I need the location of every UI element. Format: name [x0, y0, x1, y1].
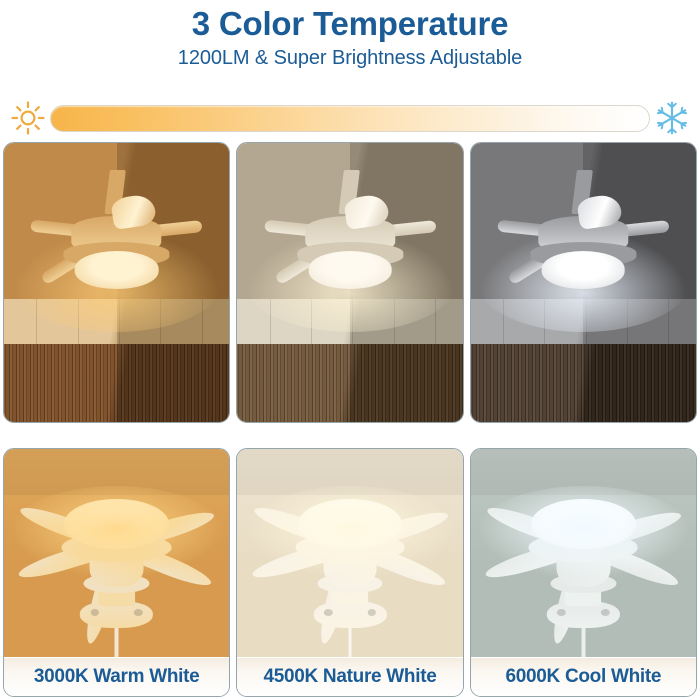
snowflake-icon — [654, 100, 690, 136]
light-dome — [531, 499, 636, 550]
light-dome — [64, 499, 169, 550]
room-photo — [471, 143, 696, 422]
room-scene-cool-white[interactable] — [470, 142, 697, 423]
temperature-gradient-bar[interactable] — [50, 105, 650, 132]
room-photo — [237, 143, 462, 422]
light-dome — [542, 251, 625, 289]
light-dome — [308, 251, 391, 289]
ceiling-fan — [471, 190, 696, 318]
page-subtitle: 1200LM & Super Brightness Adjustable — [0, 43, 700, 70]
ceiling-fan — [237, 190, 462, 318]
fan-closeup-photo — [471, 449, 696, 658]
color-temperature-caption: 6000K Cool White — [471, 657, 696, 696]
caption-label: 3000K Warm White — [34, 666, 200, 688]
light-dome — [298, 499, 403, 550]
caption-label: 4500K Nature White — [263, 666, 436, 688]
fan-closeup-row: 3000K Warm White — [3, 448, 697, 697]
photo-grid: 3000K Warm White — [3, 142, 697, 697]
fan-closeup-cool-white[interactable]: 6000K Cool White — [470, 448, 697, 697]
fan-closeup-photo — [4, 449, 229, 658]
page-title: 3 Color Temperature — [0, 0, 700, 43]
caption-label: 6000K Cool White — [505, 666, 661, 688]
header: 3 Color Temperature 1200LM & Super Brigh… — [0, 0, 700, 70]
fan-underside — [237, 482, 462, 645]
fan-closeup-warm-white[interactable]: 3000K Warm White — [3, 448, 230, 697]
room-scene-nature-white[interactable] — [236, 142, 463, 423]
ceiling-fan — [4, 190, 229, 318]
sun-icon — [8, 98, 48, 138]
product-infographic: 3 Color Temperature 1200LM & Super Brigh… — [0, 0, 700, 700]
color-temperature-caption: 3000K Warm White — [4, 657, 229, 696]
color-temperature-caption: 4500K Nature White — [237, 657, 462, 696]
fan-underside — [4, 482, 229, 645]
fan-underside — [471, 482, 696, 645]
light-dome — [75, 251, 158, 289]
room-scene-row — [3, 142, 697, 423]
fan-closeup-nature-white[interactable]: 4500K Nature White — [236, 448, 463, 697]
fan-closeup-photo — [237, 449, 462, 658]
color-temperature-slider[interactable] — [0, 96, 700, 140]
room-scene-warm-white[interactable] — [3, 142, 230, 423]
room-photo — [4, 143, 229, 422]
